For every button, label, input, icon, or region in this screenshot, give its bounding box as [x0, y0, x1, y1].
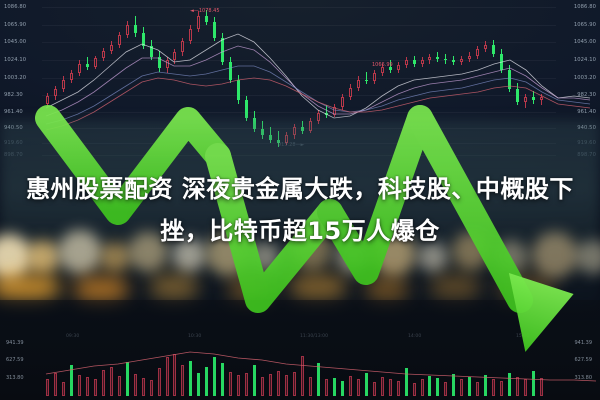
headline-line-1: 惠州股票配资 深夜贵金属大跌，科技股、中概股下: [26, 175, 574, 203]
news-banner: 1086.801065.901045.001024.101003.20982.3…: [0, 0, 600, 400]
headline-line-2: 挫，比特币超15万人爆仓: [4, 210, 596, 252]
headline: 惠州股票配资 深夜贵金属大跌，科技股、中概股下 挫，比特币超15万人爆仓: [0, 168, 600, 252]
